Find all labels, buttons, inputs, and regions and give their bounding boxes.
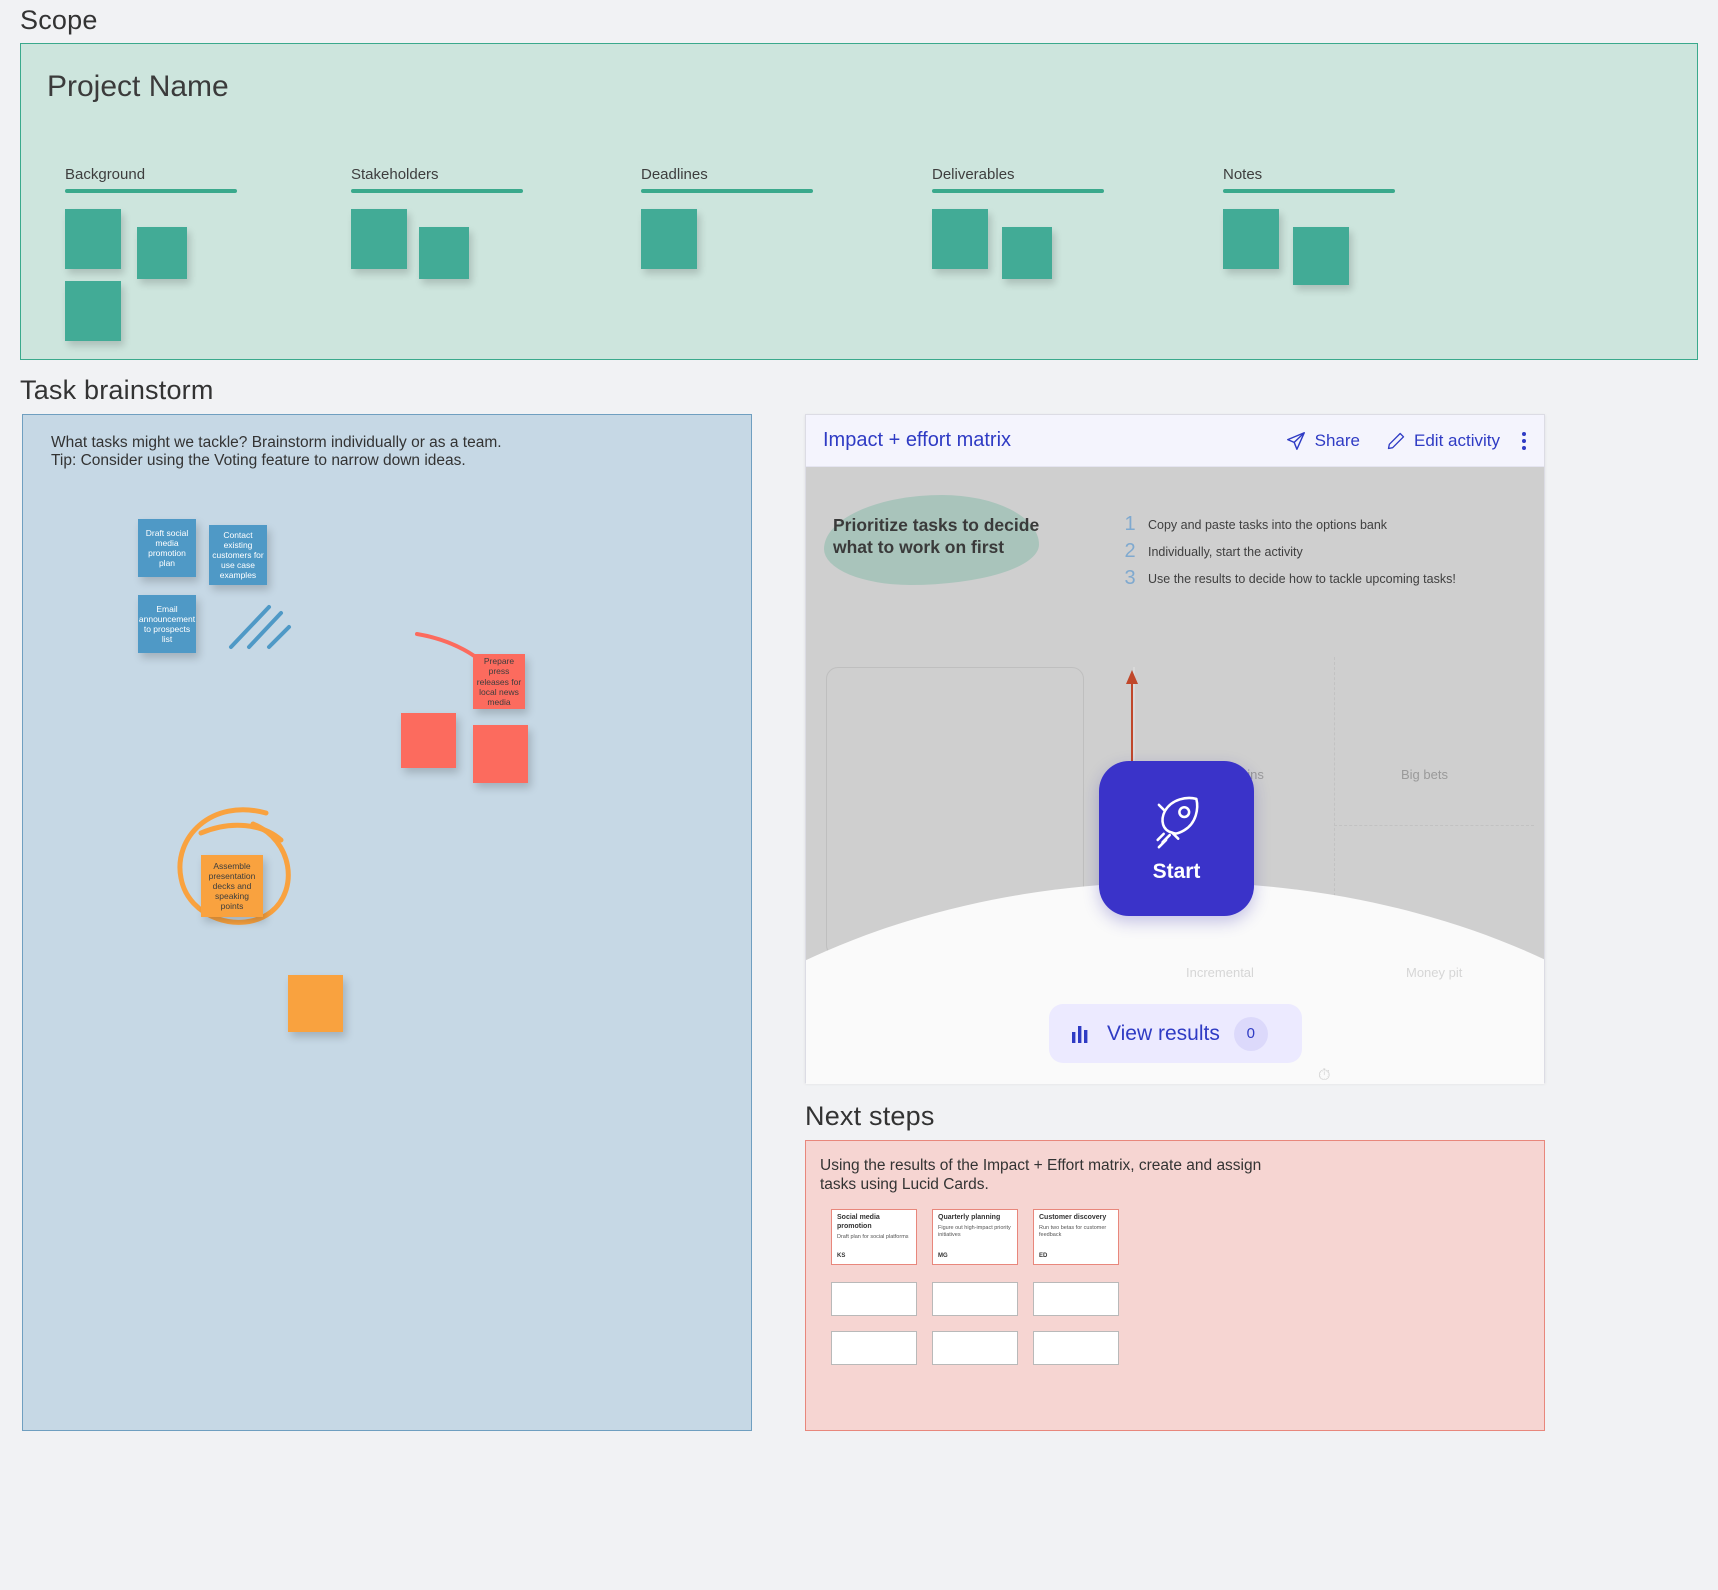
quadrant-label-incremental: Incremental <box>1186 965 1254 980</box>
pencil-icon <box>1386 431 1406 451</box>
lucid-card-owner: MG <box>938 1253 948 1261</box>
sticky-note-blank[interactable] <box>288 975 343 1032</box>
scope-column-rule <box>65 189 237 193</box>
brainstorm-instructions-line2: Tip: Consider using the Voting feature t… <box>51 452 502 470</box>
scope-note[interactable] <box>641 209 697 269</box>
scope-notes-area <box>1223 209 1395 349</box>
empty-card-slot[interactable] <box>831 1331 917 1365</box>
share-button[interactable]: Share <box>1285 430 1360 452</box>
scope-heading: Scope <box>20 5 98 36</box>
scope-column-rule <box>932 189 1104 193</box>
lucid-card-description: Figure out high-impact priority initiati… <box>938 1225 1012 1239</box>
more-options-icon[interactable] <box>1522 432 1526 450</box>
sticky-note-assemble-decks[interactable]: Assemble presentation decks and speaking… <box>201 855 263 917</box>
lucid-card-customer-discovery[interactable]: Customer discovery Run two betas for cus… <box>1033 1209 1119 1265</box>
lucid-card-description: Run two betas for customer feedback <box>1039 1225 1113 1239</box>
paper-plane-icon <box>1285 430 1307 452</box>
scope-column-background: Background <box>65 166 237 349</box>
edit-activity-label: Edit activity <box>1414 431 1500 451</box>
edit-activity-button[interactable]: Edit activity <box>1386 431 1500 451</box>
sticky-note-contact-customers[interactable]: Contact existing customers for use case … <box>209 525 267 585</box>
scope-column-label: Stakeholders <box>351 166 523 189</box>
scope-note[interactable] <box>351 209 407 269</box>
quadrant-label-big-bets: Big bets <box>1401 767 1448 782</box>
activity-step-2: 2 Individually, start the activity <box>1122 541 1303 561</box>
next-steps-instructions-line2: tasks using Lucid Cards. <box>820 1176 1261 1195</box>
activity-title: Impact + effort matrix <box>823 429 1259 452</box>
activity-step-1: 1 Copy and paste tasks into the options … <box>1122 514 1387 534</box>
scope-column-rule <box>351 189 523 193</box>
scope-board: Project Name Background Stakeholders Dea… <box>20 43 1698 360</box>
brainstorm-instructions-line1: What tasks might we tackle? Brainstorm i… <box>51 434 502 452</box>
view-results-count-badge: 0 <box>1234 1017 1268 1051</box>
project-name: Project Name <box>47 70 229 104</box>
lucid-card-owner: ED <box>1039 1253 1047 1261</box>
step-number: 3 <box>1122 568 1138 588</box>
scope-notes-area <box>351 209 523 349</box>
next-steps-heading: Next steps <box>805 1101 935 1132</box>
scope-note[interactable] <box>65 209 121 269</box>
scope-notes-area <box>932 209 1104 349</box>
scope-note[interactable] <box>419 227 469 279</box>
scope-column-stakeholders: Stakeholders <box>351 166 523 349</box>
view-results-button[interactable]: View results 0 <box>1049 1004 1302 1063</box>
impact-effort-activity-card: Impact + effort matrix Share Edit activi… <box>805 414 1545 1083</box>
step-text: Individually, start the activity <box>1148 541 1303 559</box>
sticky-note-email-announcement[interactable]: Email announcement to prospects list <box>138 595 196 653</box>
next-steps-instructions-line1: Using the results of the Impact + Effort… <box>820 1157 1261 1176</box>
next-steps-board: Using the results of the Impact + Effort… <box>805 1140 1545 1431</box>
lucid-card-social-media-promotion[interactable]: Social media promotion Draft plan for so… <box>831 1209 917 1265</box>
empty-card-slot[interactable] <box>932 1282 1018 1316</box>
scope-column-rule <box>1223 189 1395 193</box>
step-number: 2 <box>1122 541 1138 561</box>
scope-note[interactable] <box>1293 227 1349 285</box>
scope-column-notes: Notes <box>1223 166 1395 349</box>
scope-note[interactable] <box>932 209 988 269</box>
lucid-card-quarterly-planning[interactable]: Quarterly planning Figure out high-impac… <box>932 1209 1018 1265</box>
bar-chart-icon <box>1069 1022 1093 1046</box>
step-text: Copy and paste tasks into the options ba… <box>1148 514 1387 532</box>
scope-note[interactable] <box>1223 209 1279 269</box>
brainstorm-heading: Task brainstorm <box>20 375 214 406</box>
empty-card-slot[interactable] <box>932 1331 1018 1365</box>
scope-column-label: Notes <box>1223 166 1395 189</box>
lucid-card-title: Customer discovery <box>1039 1214 1113 1223</box>
scope-column-rule <box>641 189 813 193</box>
scope-column-label: Background <box>65 166 237 189</box>
scope-column-deliverables: Deliverables <box>932 166 1104 349</box>
step-text: Use the results to decide how to tackle … <box>1148 568 1456 586</box>
lucid-card-title: Quarterly planning <box>938 1214 1012 1223</box>
activity-body: Prioritize tasks to decide what to work … <box>806 467 1544 1084</box>
start-label: Start <box>1153 860 1201 884</box>
sticky-note-press-releases[interactable]: Prepare press releases for local news me… <box>473 654 525 709</box>
empty-card-slot[interactable] <box>1033 1282 1119 1316</box>
scope-notes-area <box>65 209 237 349</box>
lucid-card-owner: KS <box>837 1253 845 1261</box>
scope-column-label: Deadlines <box>641 166 813 189</box>
lucid-card-title: Social media promotion <box>837 1214 911 1232</box>
start-button[interactable]: Start <box>1099 761 1254 916</box>
activity-header: Impact + effort matrix Share Edit activi… <box>806 415 1544 467</box>
scope-column-label: Deliverables <box>932 166 1104 189</box>
scope-note[interactable] <box>1002 227 1052 279</box>
step-number: 1 <box>1122 514 1138 534</box>
scope-column-deadlines: Deadlines <box>641 166 813 349</box>
share-label: Share <box>1315 431 1360 451</box>
matrix-horizontal-divider <box>1334 825 1534 826</box>
brainstorm-board: What tasks might we tackle? Brainstorm i… <box>22 414 752 1431</box>
empty-card-slot[interactable] <box>831 1282 917 1316</box>
empty-card-slot[interactable] <box>1033 1331 1119 1365</box>
scope-note[interactable] <box>65 281 121 341</box>
sticky-note-blank[interactable] <box>401 713 456 768</box>
activity-step-3: 3 Use the results to decide how to tackl… <box>1122 568 1456 588</box>
activity-prompt: Prioritize tasks to decide what to work … <box>833 515 1063 559</box>
scope-notes-area <box>641 209 813 349</box>
scope-note[interactable] <box>137 227 187 279</box>
lucid-card-description: Draft plan for social platforms <box>837 1234 911 1241</box>
sticky-note-blank[interactable] <box>473 725 528 783</box>
brainstorm-instructions: What tasks might we tackle? Brainstorm i… <box>51 434 502 470</box>
blue-doodle-icon <box>225 595 305 655</box>
sticky-note-draft-social-media[interactable]: Draft social media promotion plan <box>138 519 196 577</box>
quadrant-label-money-pit: Money pit <box>1406 965 1462 980</box>
rocket-icon <box>1148 794 1206 852</box>
next-steps-instructions: Using the results of the Impact + Effort… <box>820 1157 1261 1194</box>
view-results-label: View results <box>1107 1022 1220 1046</box>
effort-axis-icon: ⏱ <box>1318 1067 1330 1084</box>
